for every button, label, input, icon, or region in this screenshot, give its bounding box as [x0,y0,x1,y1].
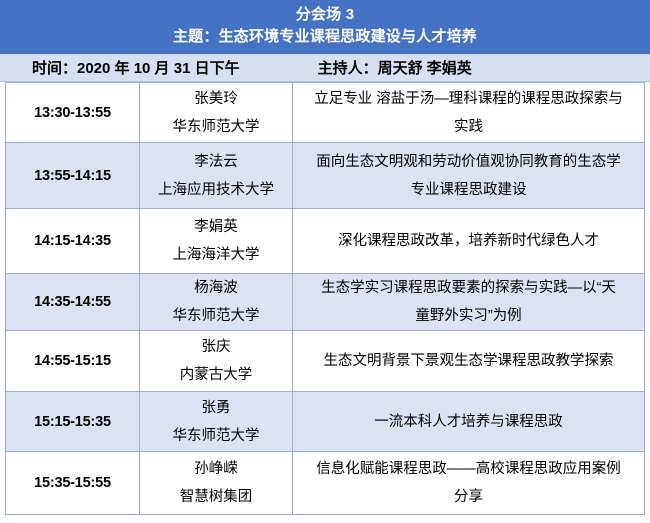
speaker-name: 杨海波 [140,274,292,302]
cell-topic: 信息化赋能课程思政——高校课程思政应用案例 分享 [293,452,645,515]
table-row: 14:35-14:55 杨海波 华东师范大学 生态学实习课程思政要素的探索与实践… [6,274,645,331]
topic-line-1: 生态学实习课程思政要素的探索与实践—以“天 [293,274,644,302]
cell-speaker: 孙峥嵘 智慧树集团 [140,452,293,515]
speaker-org: 上海应用技术大学 [140,176,292,204]
cell-time: 15:15-15:35 [6,392,140,452]
topic-line-1: 面向生态文明观和劳动价值观协同教育的生态学 [293,148,644,176]
cell-speaker: 张勇 华东师范大学 [140,392,293,452]
session-theme: 主题：生态环境专业课程思政建设与人才培养 [0,25,650,49]
speaker-name: 孙峥嵘 [140,455,292,483]
cell-time: 14:15-14:35 [6,209,140,274]
cell-speaker: 张庆 内蒙古大学 [140,331,293,392]
topic-line-1: 生态文明背景下景观生态学课程思政教学探索 [293,347,644,375]
speaker-org: 华东师范大学 [140,113,292,141]
speaker-org: 内蒙古大学 [140,361,292,389]
cell-speaker: 李娟英 上海海洋大学 [140,209,293,274]
schedule-table: 13:30-13:55 张美玲 华东师范大学 立足专业 溶盐于汤—理科课程的课程… [5,82,645,515]
speaker-org: 上海海洋大学 [140,241,292,269]
cell-topic: 立足专业 溶盐于汤—理科课程的课程思政探索与 实践 [293,83,645,143]
cell-speaker: 李法云 上海应用技术大学 [140,143,293,209]
cell-speaker: 张美玲 华东师范大学 [140,83,293,143]
session-meta-band: 时间：2020 年 10 月 31 日下午 主持人：周天舒 李娟英 [0,54,650,82]
topic-line-1: 立足专业 溶盐于汤—理科课程的课程思政探索与 [293,85,644,113]
speaker-name: 李法云 [140,148,292,176]
topic-line-2: 专业课程思政建设 [293,176,644,204]
cell-time: 14:55-15:15 [6,331,140,392]
cell-topic: 生态文明背景下景观生态学课程思政教学探索 [293,331,645,392]
speaker-name: 李娟英 [140,213,292,241]
cell-time: 15:35-15:55 [6,452,140,515]
session-title: 分会场 3 [0,4,650,25]
table-row: 15:15-15:35 张勇 华东师范大学 一流本科人才培养与课程思政 [6,392,645,452]
session-header-band: 分会场 3 主题：生态环境专业课程思政建设与人才培养 [0,0,650,54]
schedule-page: 分会场 3 主题：生态环境专业课程思政建设与人才培养 时间：2020 年 10 … [0,0,650,523]
schedule-table-wrapper: 13:30-13:55 张美玲 华东师范大学 立足专业 溶盐于汤—理科课程的课程… [0,82,650,515]
speaker-name: 张美玲 [140,85,292,113]
cell-topic: 生态学实习课程思政要素的探索与实践—以“天 童野外实习”为例 [293,274,645,331]
table-row: 13:55-14:15 李法云 上海应用技术大学 面向生态文明观和劳动价值观协同… [6,143,645,209]
speaker-org: 智慧树集团 [140,483,292,511]
cell-speaker: 杨海波 华东师范大学 [140,274,293,331]
cell-time: 13:55-14:15 [6,143,140,209]
table-row: 14:55-15:15 张庆 内蒙古大学 生态文明背景下景观生态学课程思政教学探… [6,331,645,392]
topic-line-2: 实践 [293,113,644,141]
cell-time: 13:30-13:55 [6,83,140,143]
topic-line-1: 信息化赋能课程思政——高校课程思政应用案例 [293,455,644,483]
topic-line-2: 童野外实习”为例 [293,302,644,330]
speaker-org: 华东师范大学 [140,302,292,330]
table-row: 14:15-14:35 李娟英 上海海洋大学 深化课程思政改革，培养新时代绿色人… [6,209,645,274]
speaker-org: 华东师范大学 [140,422,292,450]
table-row: 15:35-15:55 孙峥嵘 智慧树集团 信息化赋能课程思政——高校课程思政应… [6,452,645,515]
cell-topic: 深化课程思政改革，培养新时代绿色人才 [293,209,645,274]
topic-line-2: 分享 [293,483,644,511]
session-host: 主持人：周天舒 李娟英 [318,57,472,78]
cell-time: 14:35-14:55 [6,274,140,331]
session-time: 时间：2020 年 10 月 31 日下午 [32,57,240,78]
cell-topic: 一流本科人才培养与课程思政 [293,392,645,452]
speaker-name: 张勇 [140,394,292,422]
topic-line-1: 一流本科人才培养与课程思政 [293,408,644,436]
speaker-name: 张庆 [140,333,292,361]
topic-line-1: 深化课程思政改革，培养新时代绿色人才 [293,227,644,255]
table-row: 13:30-13:55 张美玲 华东师范大学 立足专业 溶盐于汤—理科课程的课程… [6,83,645,143]
cell-topic: 面向生态文明观和劳动价值观协同教育的生态学 专业课程思政建设 [293,143,645,209]
